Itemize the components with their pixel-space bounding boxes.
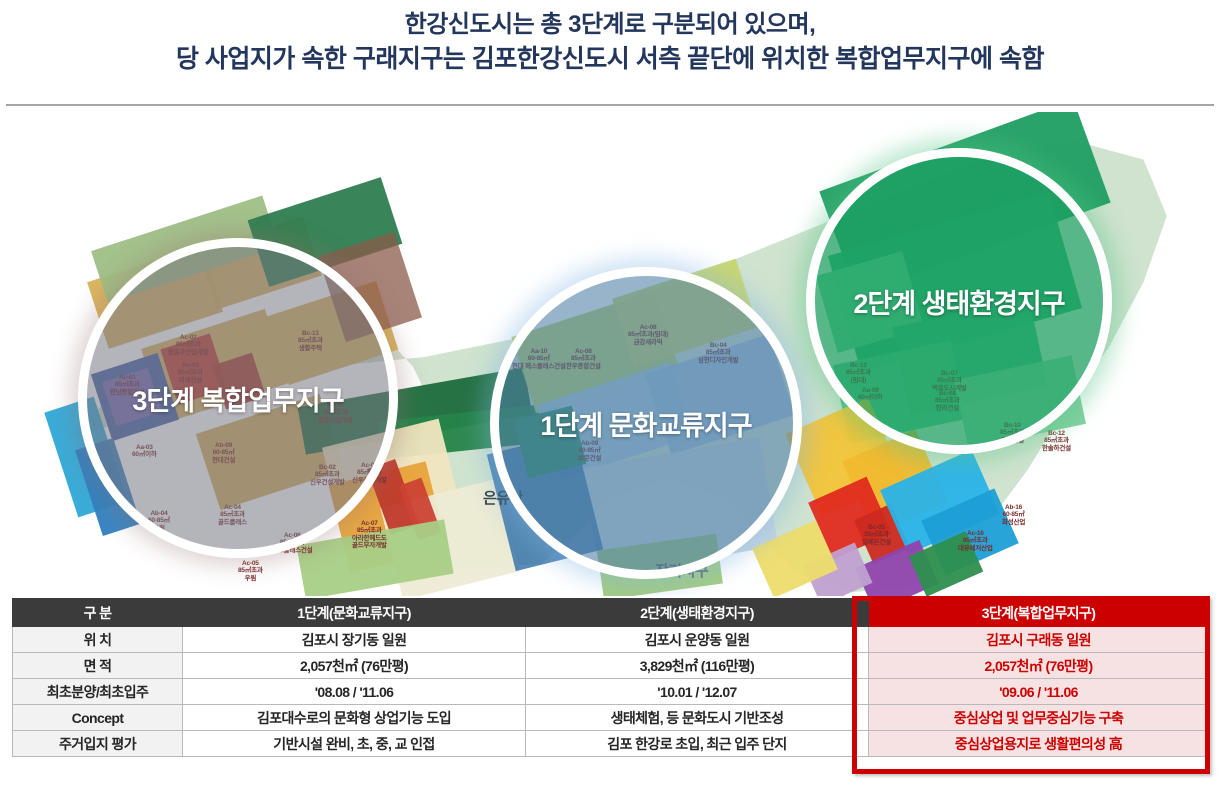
table-cell-stage3-residential-evaluation: 중심상업용지로 생활편의성 高 [869,731,1209,757]
table-col-header-division: 구 분 [13,599,183,627]
table-cell-stage3-area: 2,057천㎡ (76만평) [869,653,1209,679]
table-row-label-concept: Concept [13,705,183,731]
table-cell-stage3-concept: 중심상업 및 업무중심기능 구축 [869,705,1209,731]
map-parcel-label: Ab-16 60-85㎡ 화성산업 [1002,504,1025,526]
highlight-circle-stage2[interactable]: 2단계 생태환경지구 [806,148,1112,454]
table-cell-stage1-location: 김포시 장기동 일원 [183,627,526,653]
table-cell-stage1-residential-evaluation: 기반시설 완비, 초, 중, 교 인접 [183,731,526,757]
table-row-label-residential-evaluation: 주거입지 평가 [13,731,183,757]
table-cell-stage1-concept: 김포대수로의 문화형 상업기능 도입 [183,705,526,731]
map-parcel-label: Bc-12 85㎡초과 한솔하건설 [1042,430,1071,452]
map-parcel-label: Ac-16 85㎡초과 대유레저산업 [958,530,993,552]
table-cell-stage2-area: 3,829천㎡ (116만평) [526,653,869,679]
table-row: 주거입지 평가 기반시설 완비, 초, 중, 교 인접 김포 한강로 초입, 최… [13,731,1209,757]
table-row-label-location: 위 치 [13,627,183,653]
table-cell-stage3-sale-moveindate: '09.06 / '11.06 [869,679,1209,705]
stage-comparison-table-wrapper: 구 분 1단계(문화교류지구) 2단계(생태환경지구) 3단계(복합업무지구) … [12,598,1208,757]
map-parcel-label: Bc-05 85㎡초과 일레븐건설 [862,524,891,546]
table-cell-stage1-area: 2,057천㎡ (76만평) [183,653,526,679]
table-row: Concept 김포대수로의 문화형 상업기능 도입 생태체험, 등 문화도시 … [13,705,1209,731]
title-line-1: 한강신도시는 총 3단계로 구분되어 있으며, [0,10,1220,41]
table-row: 면 적 2,057천㎡ (76만평) 3,829천㎡ (116만평) 2,057… [13,653,1209,679]
slide-header: 한강신도시는 총 3단계로 구분되어 있으며, 당 사업지가 속한 구래지구는 … [0,0,1220,75]
table-col-header-stage2: 2단계(생태환경지구) [526,599,869,627]
highlight-circle-stage3-label: 3단계 복합업무지구 [132,379,343,418]
zoning-map: Ac-02 85㎡초과 중흥우산업개발 Ac-03 85㎡초과 미래건설 Ac-… [0,112,1220,596]
table-row: 최초분양/최초입주 '08.08 / '11.06 '10.01 / '12.0… [13,679,1209,705]
table-row-label-sale-moveindate: 최초분양/최초입주 [13,679,183,705]
highlight-circle-stage1-label: 1단계 문화교류지구 [540,404,751,443]
table-cell-stage1-sale-moveindate: '08.08 / '11.06 [183,679,526,705]
table-row: 위 치 김포시 장기동 일원 김포시 운양동 일원 김포시 구래동 일원 [13,627,1209,653]
table-row-label-area: 면 적 [13,653,183,679]
header-divider [6,104,1214,106]
stage-comparison-table: 구 분 1단계(문화교류지구) 2단계(생태환경지구) 3단계(복합업무지구) … [12,598,1209,757]
table-col-header-stage1: 1단계(문화교류지구) [183,599,526,627]
table-header-row: 구 분 1단계(문화교류지구) 2단계(생태환경지구) 3단계(복합업무지구) [13,599,1209,627]
table-cell-stage2-residential-evaluation: 김포 한강로 초입, 최근 입주 단지 [526,731,869,757]
table-col-header-stage3: 3단계(복합업무지구) [869,599,1209,627]
title-line-2-emphasis: 구래지구는 김포한강신도시 서측 끝단에 위치한 복합업무지구에 속함 [353,45,1044,73]
map-parcel-label: Ac-05 85㎡초과 우림 [238,560,263,582]
highlight-circle-stage2-label: 2단계 생태환경지구 [853,282,1064,321]
highlight-circle-stage3[interactable]: 3단계 복합업무지구 [78,238,398,558]
table-cell-stage2-location: 김포시 운양동 일원 [526,627,869,653]
map-parcel-label: Ac-07 85㎡초과 아라한헤드도 골드무자개발 [352,520,387,550]
table-cell-stage3-location: 김포시 구래동 일원 [869,627,1209,653]
title-line-2-lead: 당 사업지가 속한 [176,45,353,73]
title-line-2: 당 사업지가 속한 구래지구는 김포한강신도시 서측 끝단에 위치한 복합업무지… [0,43,1220,75]
table-cell-stage2-sale-moveindate: '10.01 / '12.07 [526,679,869,705]
highlight-circle-stage1[interactable]: 1단계 문화교류지구 [490,267,802,579]
table-cell-stage2-concept: 생태체험, 등 문화도시 기반조성 [526,705,869,731]
